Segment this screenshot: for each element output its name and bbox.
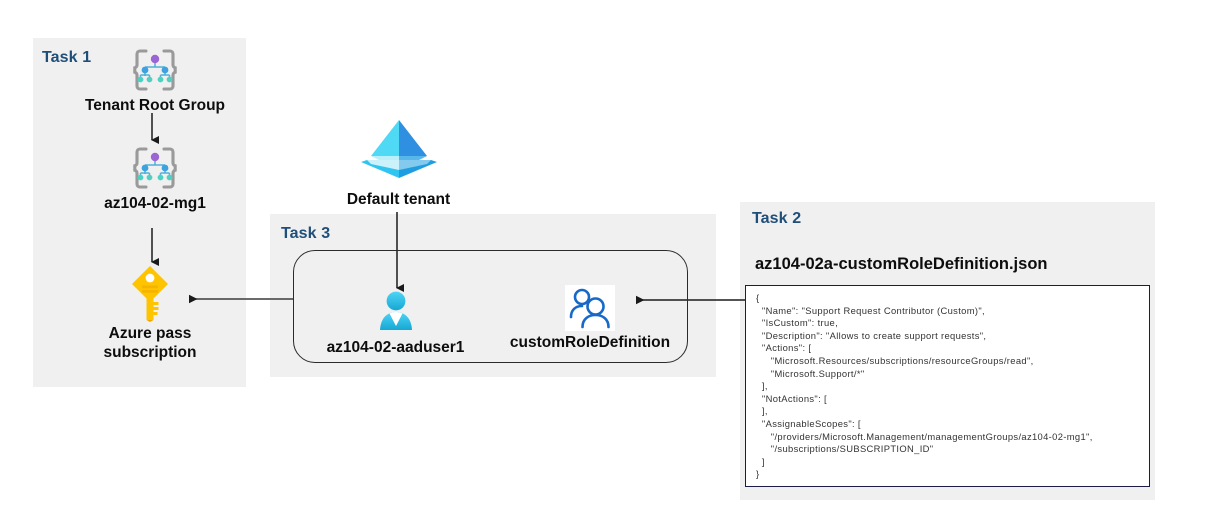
node-label: az104-02-mg1 <box>65 194 245 213</box>
node-tenant-root-group[interactable]: Tenant Root Group <box>65 46 245 115</box>
two-users-icon <box>500 285 680 331</box>
key-icon <box>60 264 240 322</box>
node-default-tenant[interactable]: Default tenant <box>326 116 471 209</box>
json-content-box[interactable]: { "Name": "Support Request Contributor (… <box>745 285 1150 487</box>
node-az104-02-aaduser1[interactable]: az104-02-aaduser1 <box>308 288 483 357</box>
task3-label: Task 3 <box>281 225 330 243</box>
node-label-line2: subscription <box>60 343 240 362</box>
task2-label: Task 2 <box>752 210 801 228</box>
node-label: Default tenant <box>326 190 471 209</box>
node-label: Tenant Root Group <box>65 96 245 115</box>
node-label-line1: Azure pass <box>60 324 240 343</box>
node-label: az104-02-aaduser1 <box>308 338 483 357</box>
node-az104-02-mg1[interactable]: az104-02-mg1 <box>65 144 245 213</box>
diagram-canvas: Task 1 Task 3 Task 2 Tenant Root Group <box>0 0 1212 522</box>
node-azure-pass-subscription[interactable]: Azure pass subscription <box>60 264 240 362</box>
user-icon <box>308 288 483 336</box>
management-group-icon <box>65 46 245 94</box>
management-group-icon <box>65 144 245 192</box>
node-label: customRoleDefinition <box>500 333 680 352</box>
json-filename-label: az104-02a-customRoleDefinition.json <box>755 255 1047 274</box>
azure-tenant-pyramid-icon <box>326 116 471 188</box>
node-customroledefinition[interactable]: customRoleDefinition <box>500 285 680 352</box>
json-code-text: { "Name": "Support Request Contributor (… <box>756 292 1149 481</box>
